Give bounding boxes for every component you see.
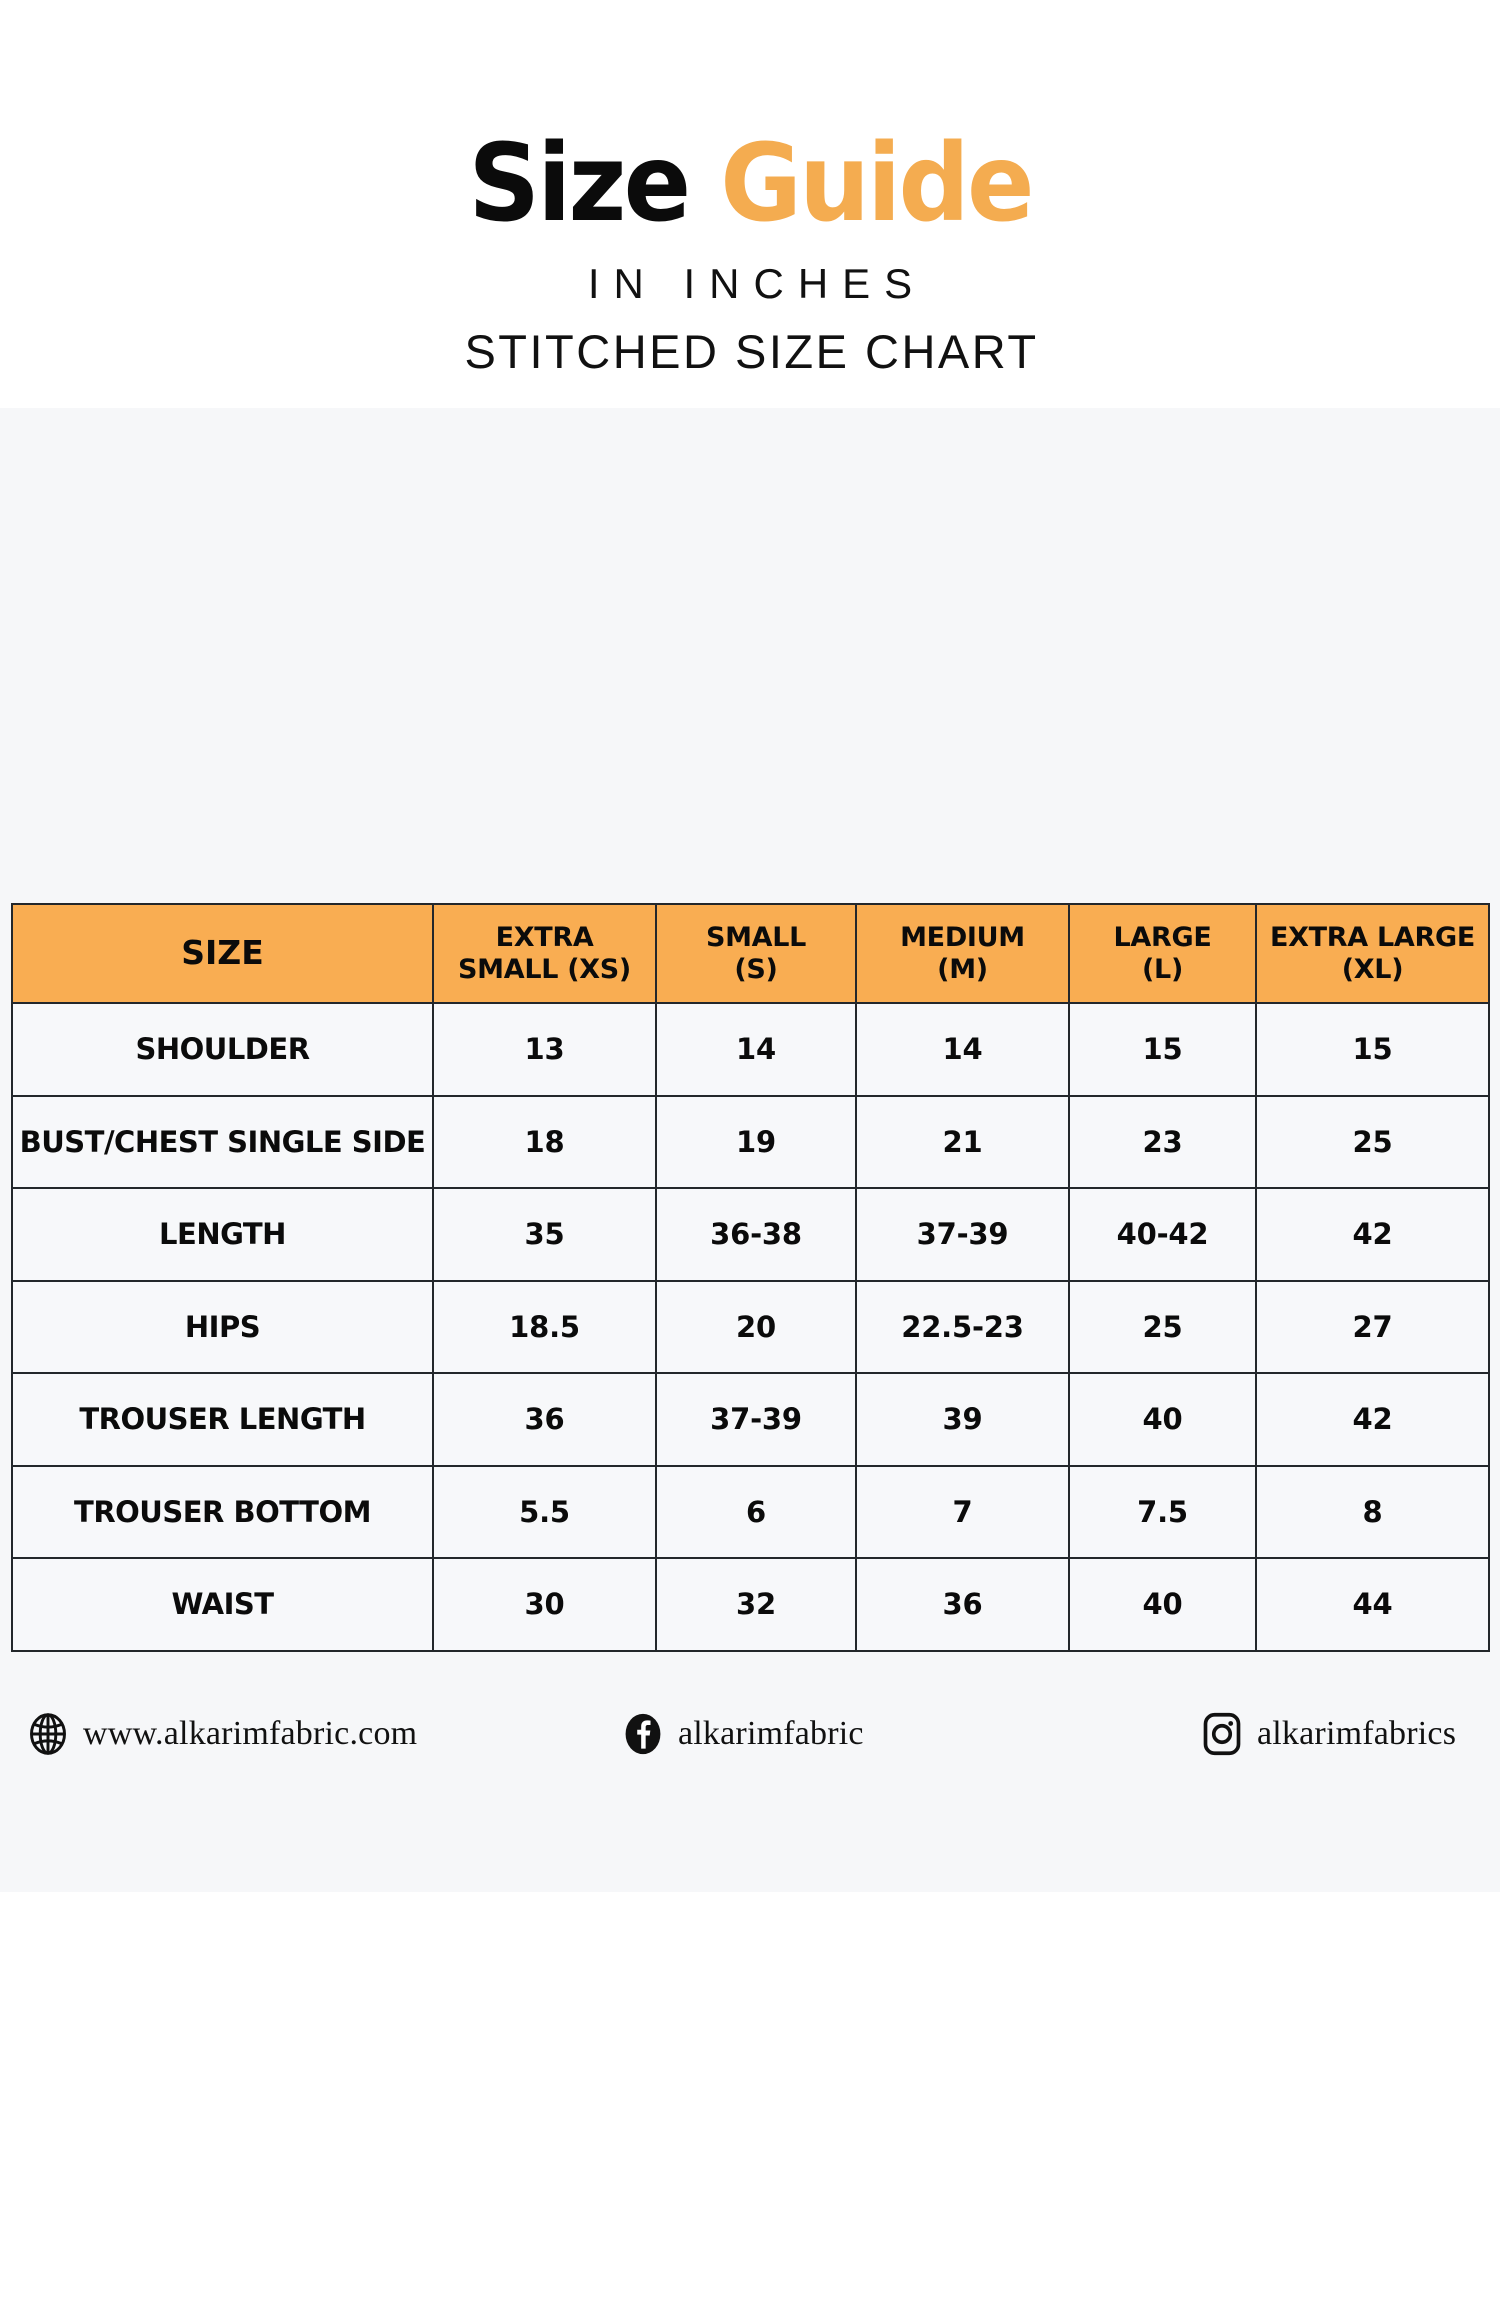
globe-icon xyxy=(26,1712,70,1756)
column-header-l: LARGE(L) xyxy=(1069,904,1256,1003)
table-row: WAIST 30 32 36 40 44 xyxy=(12,1558,1489,1651)
column-header-m: MEDIUM(M) xyxy=(856,904,1069,1003)
cell-value: 30 xyxy=(433,1558,656,1651)
cell-value: 14 xyxy=(856,1003,1069,1096)
cell-value: 44 xyxy=(1256,1558,1489,1651)
table-row: SHOULDER 13 14 14 15 15 xyxy=(12,1003,1489,1096)
cell-value: 37-39 xyxy=(856,1188,1069,1281)
column-header-l-line2: (L) xyxy=(1142,954,1183,985)
column-header-l-line1: LARGE xyxy=(1114,922,1212,953)
cell-value: 25 xyxy=(1069,1281,1256,1374)
column-header-xl-line2: (XL) xyxy=(1342,954,1404,985)
cell-value: 18.5 xyxy=(433,1281,656,1374)
cell-value: 39 xyxy=(856,1373,1069,1466)
cell-value: 23 xyxy=(1069,1096,1256,1189)
column-header-xl: EXTRA LARGE(XL) xyxy=(1256,904,1489,1003)
instagram-icon xyxy=(1200,1712,1244,1756)
table-row: HIPS 18.5 20 22.5-23 25 27 xyxy=(12,1281,1489,1374)
cell-value: 19 xyxy=(656,1096,856,1189)
table-header: SIZE EXTRASMALL (XS) SMALL(S) MEDIUM(M) … xyxy=(12,904,1489,1003)
cell-value: 6 xyxy=(656,1466,856,1559)
cell-value: 36 xyxy=(433,1373,656,1466)
page-title: Size Guide xyxy=(53,131,1448,238)
facebook-icon xyxy=(621,1712,665,1756)
cell-value: 5.5 xyxy=(433,1466,656,1559)
cell-value: 36-38 xyxy=(656,1188,856,1281)
cell-value: 13 xyxy=(433,1003,656,1096)
row-label: SHOULDER xyxy=(12,1003,433,1096)
table-row: BUST/CHEST SINGLE SIDE 18 19 21 23 25 xyxy=(12,1096,1489,1189)
cell-value: 20 xyxy=(656,1281,856,1374)
footer-facebook-link[interactable]: alkarimfabric xyxy=(621,1702,864,1766)
column-header-size-label: SIZE xyxy=(181,933,264,972)
cell-value: 42 xyxy=(1256,1188,1489,1281)
row-label: LENGTH xyxy=(12,1188,433,1281)
size-chart-table: SIZE EXTRASMALL (XS) SMALL(S) MEDIUM(M) … xyxy=(11,903,1490,1652)
column-header-xs: EXTRASMALL (XS) xyxy=(433,904,656,1003)
subtitle-chart-kind: STITCHED SIZE CHART xyxy=(0,324,1500,379)
column-header-m-line2: (M) xyxy=(937,954,988,985)
cell-value: 35 xyxy=(433,1188,656,1281)
table-header-row: SIZE EXTRASMALL (XS) SMALL(S) MEDIUM(M) … xyxy=(12,904,1489,1003)
footer-instagram-label: alkarimfabrics xyxy=(1257,1715,1456,1753)
size-guide-page: Size Guide IN INCHES STITCHED SIZE CHART… xyxy=(0,0,1500,2300)
footer-website-label: www.alkarimfabric.com xyxy=(83,1715,417,1753)
footer: www.alkarimfabric.com alkarimfabric alka… xyxy=(0,1702,1500,1766)
cell-value: 27 xyxy=(1256,1281,1489,1374)
table-row: TROUSER BOTTOM 5.5 6 7 7.5 8 xyxy=(12,1466,1489,1559)
cell-value: 40 xyxy=(1069,1558,1256,1651)
row-label: WAIST xyxy=(12,1558,433,1651)
subtitle-units: IN INCHES xyxy=(0,260,1500,308)
column-header-xl-line1: EXTRA LARGE xyxy=(1270,922,1475,953)
cell-value: 14 xyxy=(656,1003,856,1096)
cell-value: 7 xyxy=(856,1466,1069,1559)
column-header-xs-line2: SMALL (XS) xyxy=(458,954,631,985)
column-header-xs-line1: EXTRA xyxy=(496,922,594,953)
table-row: LENGTH 35 36-38 37-39 40-42 42 xyxy=(12,1188,1489,1281)
footer-facebook-label: alkarimfabric xyxy=(678,1715,864,1753)
cell-value: 25 xyxy=(1256,1096,1489,1189)
cell-value: 7.5 xyxy=(1069,1466,1256,1559)
footer-website-link[interactable]: www.alkarimfabric.com xyxy=(26,1702,417,1766)
title-word-size: Size xyxy=(468,122,688,246)
footer-instagram-link[interactable]: alkarimfabrics xyxy=(1200,1702,1456,1766)
cell-value: 15 xyxy=(1256,1003,1489,1096)
row-label: BUST/CHEST SINGLE SIDE xyxy=(12,1096,433,1189)
row-label: TROUSER BOTTOM xyxy=(12,1466,433,1559)
column-header-size: SIZE xyxy=(12,904,433,1003)
column-header-s: SMALL(S) xyxy=(656,904,856,1003)
column-header-s-line2: (S) xyxy=(734,954,777,985)
cell-value: 42 xyxy=(1256,1373,1489,1466)
cell-value: 37-39 xyxy=(656,1373,856,1466)
column-header-m-line1: MEDIUM xyxy=(900,922,1025,953)
row-label: HIPS xyxy=(12,1281,433,1374)
cell-value: 32 xyxy=(656,1558,856,1651)
cell-value: 21 xyxy=(856,1096,1069,1189)
title-word-guide: Guide xyxy=(720,122,1031,246)
row-label: TROUSER LENGTH xyxy=(12,1373,433,1466)
table-body: SHOULDER 13 14 14 15 15 BUST/CHEST SINGL… xyxy=(12,1003,1489,1651)
cell-value: 15 xyxy=(1069,1003,1256,1096)
cell-value: 18 xyxy=(433,1096,656,1189)
cell-value: 40-42 xyxy=(1069,1188,1256,1281)
size-chart-table-container: SIZE EXTRASMALL (XS) SMALL(S) MEDIUM(M) … xyxy=(11,903,1488,1652)
table-row: TROUSER LENGTH 36 37-39 39 40 42 xyxy=(12,1373,1489,1466)
cell-value: 40 xyxy=(1069,1373,1256,1466)
cell-value: 36 xyxy=(856,1558,1069,1651)
heading-block: Size Guide IN INCHES STITCHED SIZE CHART xyxy=(0,131,1500,379)
cell-value: 22.5-23 xyxy=(856,1281,1069,1374)
cell-value: 8 xyxy=(1256,1466,1489,1559)
column-header-s-line1: SMALL xyxy=(706,922,806,953)
